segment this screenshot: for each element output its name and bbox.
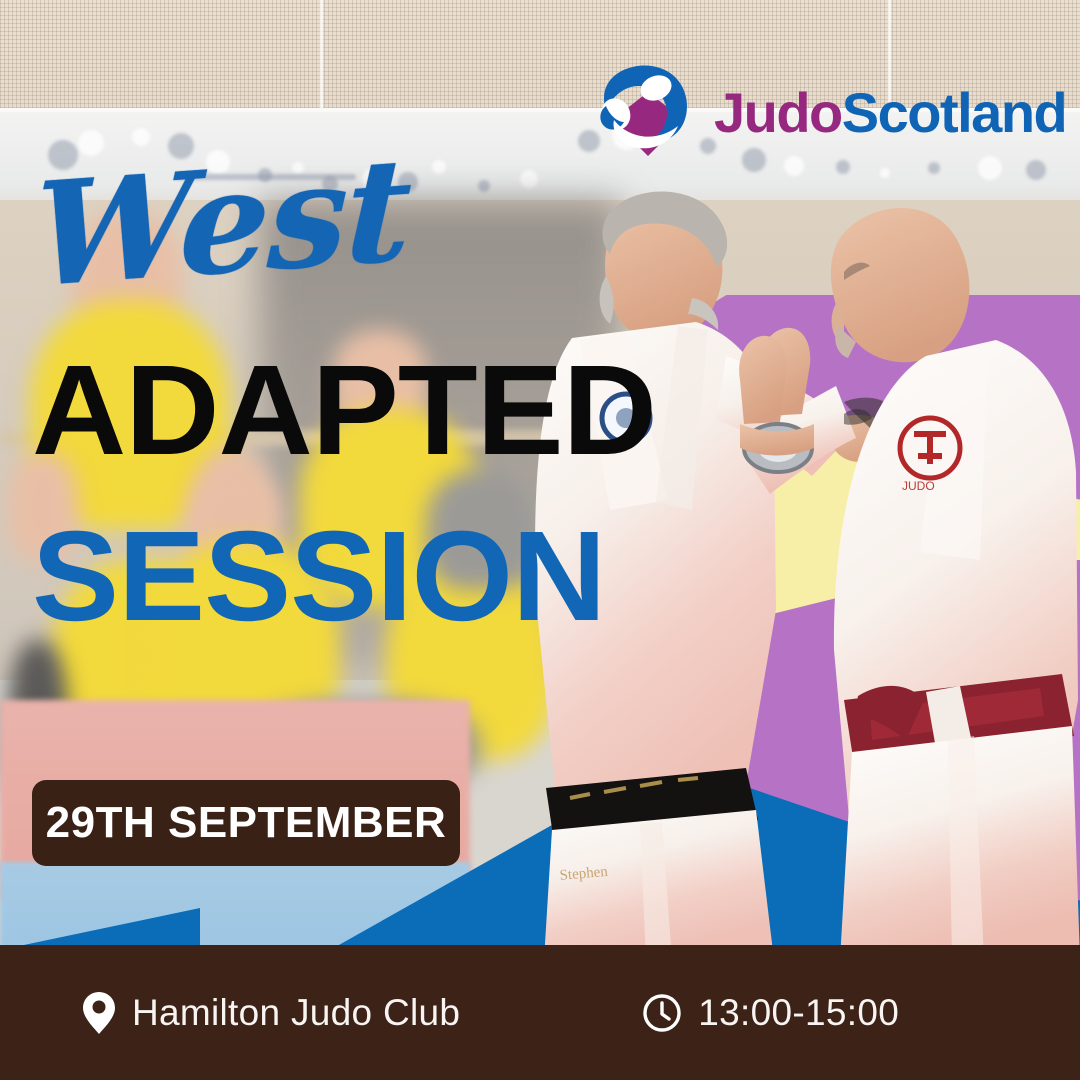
brand-word-scotland: Scotland (842, 81, 1066, 144)
brand-wordmark: JudoScotland (714, 80, 1066, 145)
bokeh-circle (432, 160, 446, 174)
bokeh-circle (132, 128, 150, 146)
brand-word-judo: Judo (714, 81, 842, 144)
footer-time: 13:00-15:00 (642, 992, 899, 1034)
headline-line-two: SESSION (32, 518, 605, 636)
date-badge: 29TH SEPTEMBER (32, 780, 460, 866)
footer-time-label: 13:00-15:00 (698, 992, 899, 1034)
date-badge-label: 29TH SEPTEMBER (46, 798, 447, 848)
clock-icon (642, 993, 682, 1033)
headline-line-one: ADAPTED (32, 352, 656, 470)
location-pin-icon (82, 991, 116, 1035)
bokeh-circle (880, 168, 890, 178)
brand-logo[interactable]: JudoScotland (592, 58, 1066, 166)
footer-bar: Hamilton Judo Club 13:00-15:00 (0, 945, 1080, 1080)
svg-text:JUDO: JUDO (902, 479, 935, 493)
judoka-right: JUDO (738, 208, 1080, 960)
footer-venue: Hamilton Judo Club (82, 991, 460, 1035)
headline-script-west: West (32, 139, 412, 308)
footer-venue-label: Hamilton Judo Club (132, 992, 460, 1034)
judo-scotland-logo-mark (592, 58, 700, 166)
poster-canvas: Stephen JUDO (0, 0, 1080, 1080)
ceiling-seam (320, 0, 323, 108)
